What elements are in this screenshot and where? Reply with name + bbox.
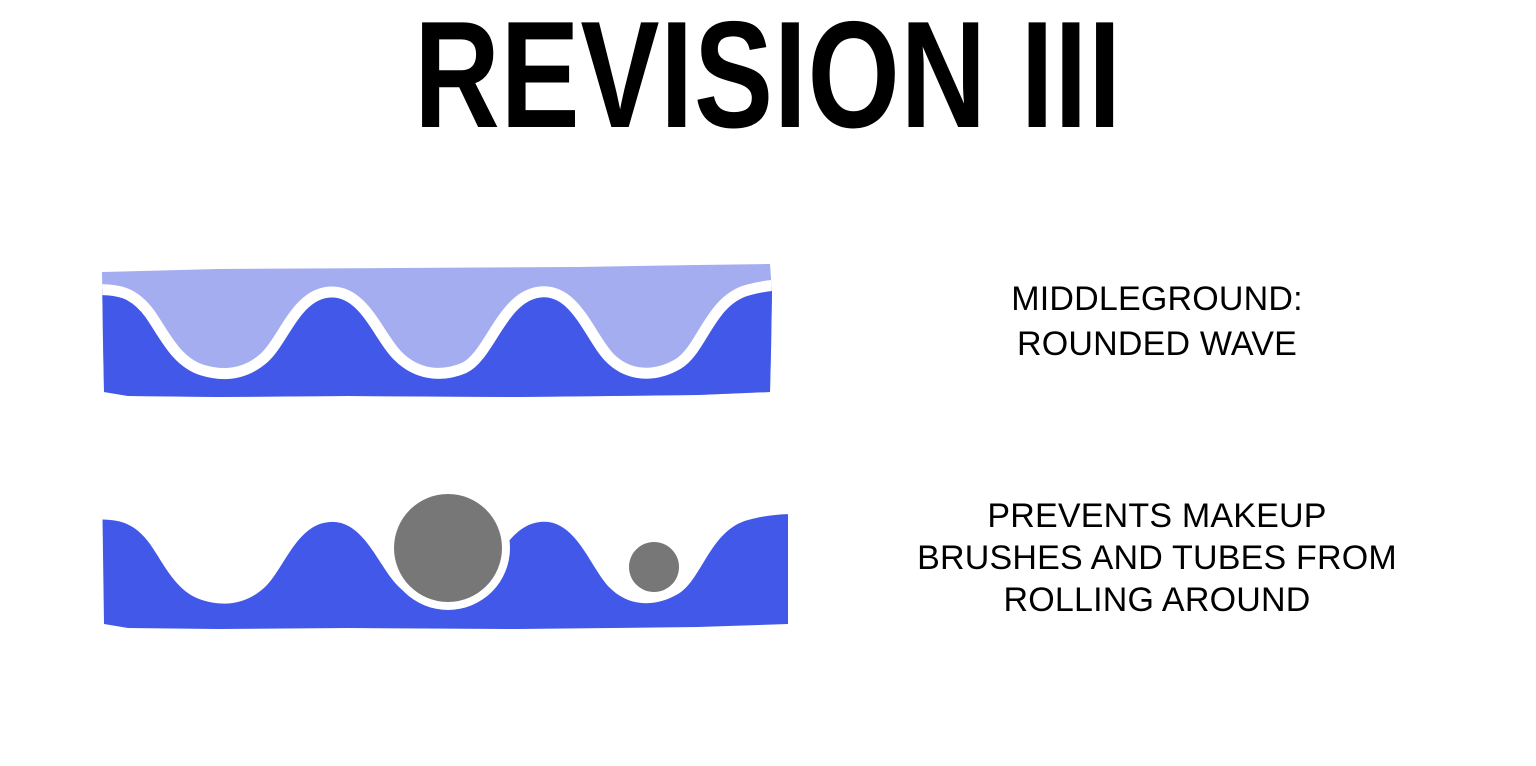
diagram-middleground-rounded-wave — [98, 252, 788, 412]
page-title: REVISION III — [169, 0, 1367, 150]
caption-line: MIDDLEGROUND: — [830, 277, 1484, 322]
caption-benefit: PREVENTS MAKEUP BRUSHES AND TUBES FROM R… — [830, 495, 1484, 621]
caption-line: BRUSHES AND TUBES FROM — [830, 537, 1484, 579]
caption-middleground: MIDDLEGROUND: ROUNDED WAVE — [830, 277, 1484, 367]
caption-line: ROLLING AROUND — [830, 579, 1484, 621]
middleground-wave-svg — [98, 252, 788, 412]
caption-line: PREVENTS MAKEUP — [830, 495, 1484, 537]
small-round-object — [629, 542, 679, 592]
caption-line: ROUNDED WAVE — [830, 322, 1484, 367]
diagram-items-resting-in-wave — [98, 482, 788, 637]
items-wave-svg — [98, 482, 788, 637]
large-round-object — [394, 494, 502, 602]
